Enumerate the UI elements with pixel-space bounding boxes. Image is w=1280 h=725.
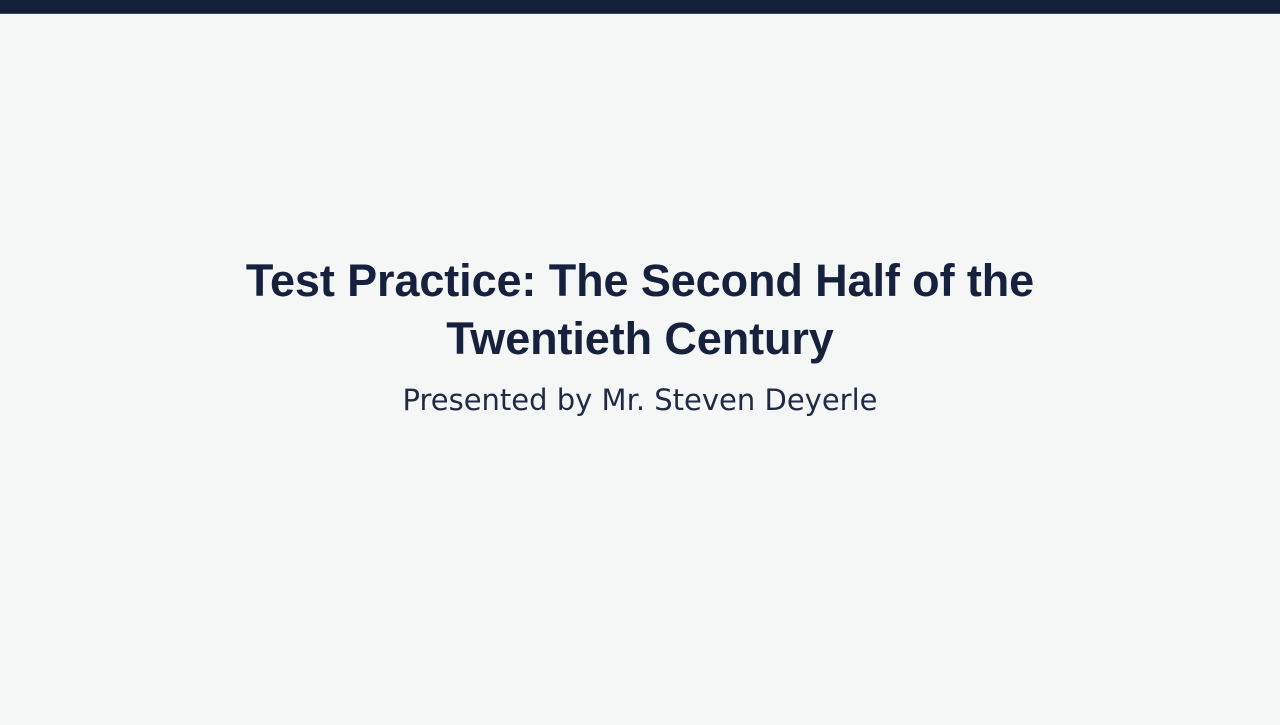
- slide-title: Test Practice: The Second Half of the Tw…: [220, 252, 1060, 368]
- title-slide[interactable]: Test Practice: The Second Half of the Tw…: [0, 15, 1280, 725]
- slide-stage[interactable]: Test Practice: The Second Half of the Tw…: [0, 15, 1280, 725]
- title-block: Test Practice: The Second Half of the Tw…: [0, 252, 1280, 419]
- slide-subtitle: Presented by Mr. Steven Deyerle: [0, 381, 1280, 419]
- presentation-top-bar[interactable]: [0, 0, 1280, 14]
